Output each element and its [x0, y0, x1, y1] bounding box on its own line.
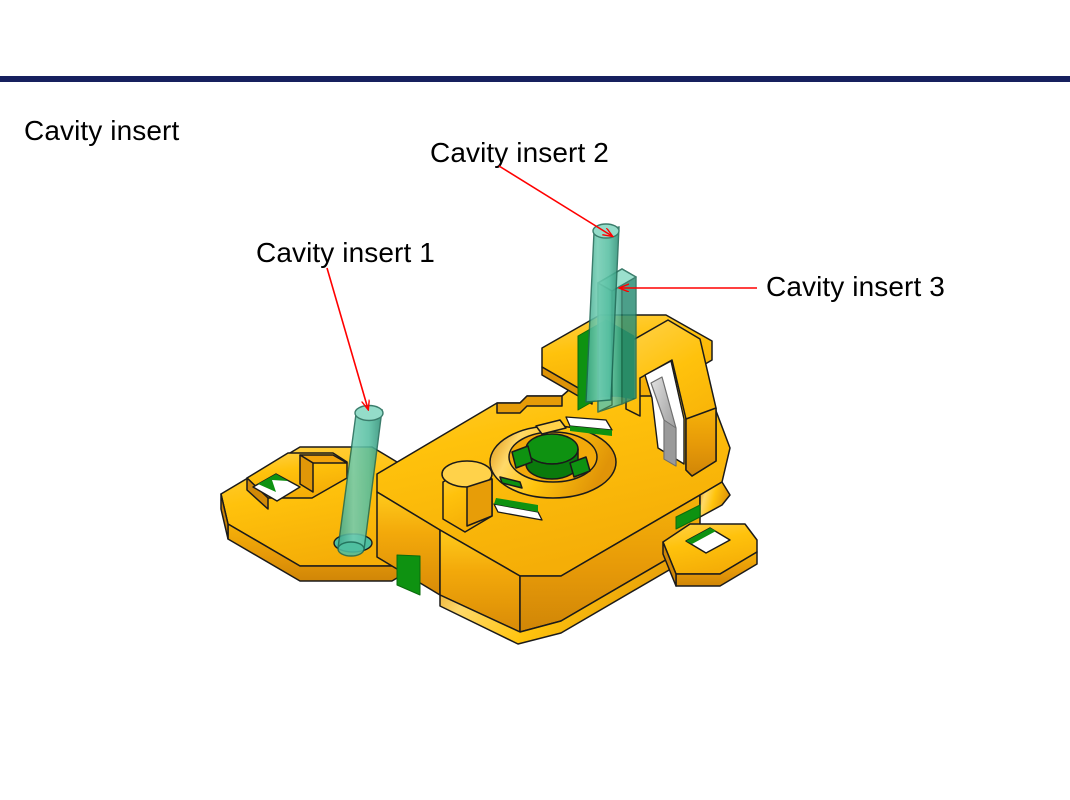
- leader-line-insert-1: [327, 268, 368, 409]
- slide-canvas: Cavity insert Cavity insert 1 Cavity ins…: [0, 0, 1070, 800]
- leader-line-insert-2: [499, 166, 612, 236]
- insert-1-bottom-cap: [338, 542, 364, 556]
- body-corner-green-face: [397, 555, 420, 595]
- cad-model-viewport: [0, 0, 1070, 800]
- insert-3-side-face: [622, 269, 636, 404]
- moulded-part-body: [221, 315, 757, 644]
- handle-loop-metal-slide-edge: [664, 420, 676, 466]
- insert-1-top-cap: [355, 406, 383, 421]
